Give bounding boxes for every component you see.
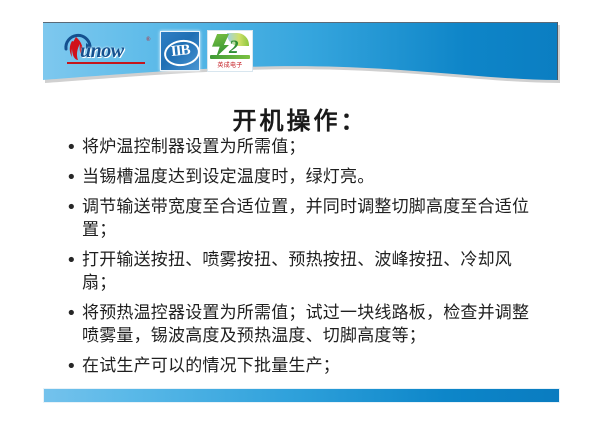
list-item-text: 调节输送带宽度至合适位置，并同时调整切脚高度至合适位置； [82, 196, 536, 242]
bullet-marker-icon: • [66, 355, 82, 378]
iib-monogram: IIB [170, 42, 190, 61]
header-banner: unow ® IIB 2 英成电子 [43, 22, 558, 80]
registered-trademark-icon: ® [146, 37, 151, 43]
list-item-text: 当锡槽温度达到设定温度时，绿灯亮。 [82, 166, 536, 189]
list-item: • 在试生产可以的情况下批量生产； [66, 355, 536, 378]
list-item: • 将预热温控器设置为所需值；试过一块线路板，检查并调整喷雾量，锡波高度及预热温… [66, 302, 536, 348]
unow-logo: unow ® [61, 31, 153, 71]
list-item-text: 将预热温控器设置为所需值；试过一块线路板，检查并调整喷雾量，锡波高度及预热温度、… [82, 302, 536, 348]
green-company-logo: 2 英成电子 [207, 30, 253, 72]
green-logo-glyph: 2 [208, 31, 252, 60]
list-item: • 打开输送按扭、喷雾按扭、预热按扭、波峰按扭、冷却风扇； [66, 249, 536, 295]
logo-row: unow ® IIB 2 英成电子 [61, 28, 253, 74]
green-logo-base [210, 55, 250, 59]
list-item: • 将炉温控制器设置为所需值； [66, 136, 536, 159]
green-logo-caption: 英成电子 [208, 60, 252, 71]
list-item: • 调节输送带宽度至合适位置，并同时调整切脚高度至合适位置； [66, 196, 536, 242]
bullet-marker-icon: • [66, 196, 82, 219]
leaf-icon [212, 34, 229, 57]
bullet-list: • 将炉温控制器设置为所需值； • 当锡槽温度达到设定温度时，绿灯亮。 • 调节… [66, 136, 536, 385]
header-banner-top-border [43, 22, 558, 23]
bullet-marker-icon: • [66, 249, 82, 272]
list-item-text: 将炉温控制器设置为所需值； [82, 136, 536, 159]
footer-bar [43, 388, 560, 403]
unow-underline [67, 62, 145, 64]
iib-logo: IIB [160, 31, 200, 71]
bullet-marker-icon: • [66, 136, 82, 159]
list-item-text: 在试生产可以的情况下批量生产； [82, 355, 536, 378]
header-banner-right-border [557, 22, 558, 80]
bullet-marker-icon: • [66, 166, 82, 189]
page-title: 开机操作： [0, 101, 600, 136]
unow-wordmark: unow [80, 40, 124, 63]
list-item: • 当锡槽温度达到设定温度时，绿灯亮。 [66, 166, 536, 189]
list-item-text: 打开输送按扭、喷雾按扭、预热按扭、波峰按扭、冷却风扇； [82, 249, 536, 295]
bullet-marker-icon: • [66, 302, 82, 325]
